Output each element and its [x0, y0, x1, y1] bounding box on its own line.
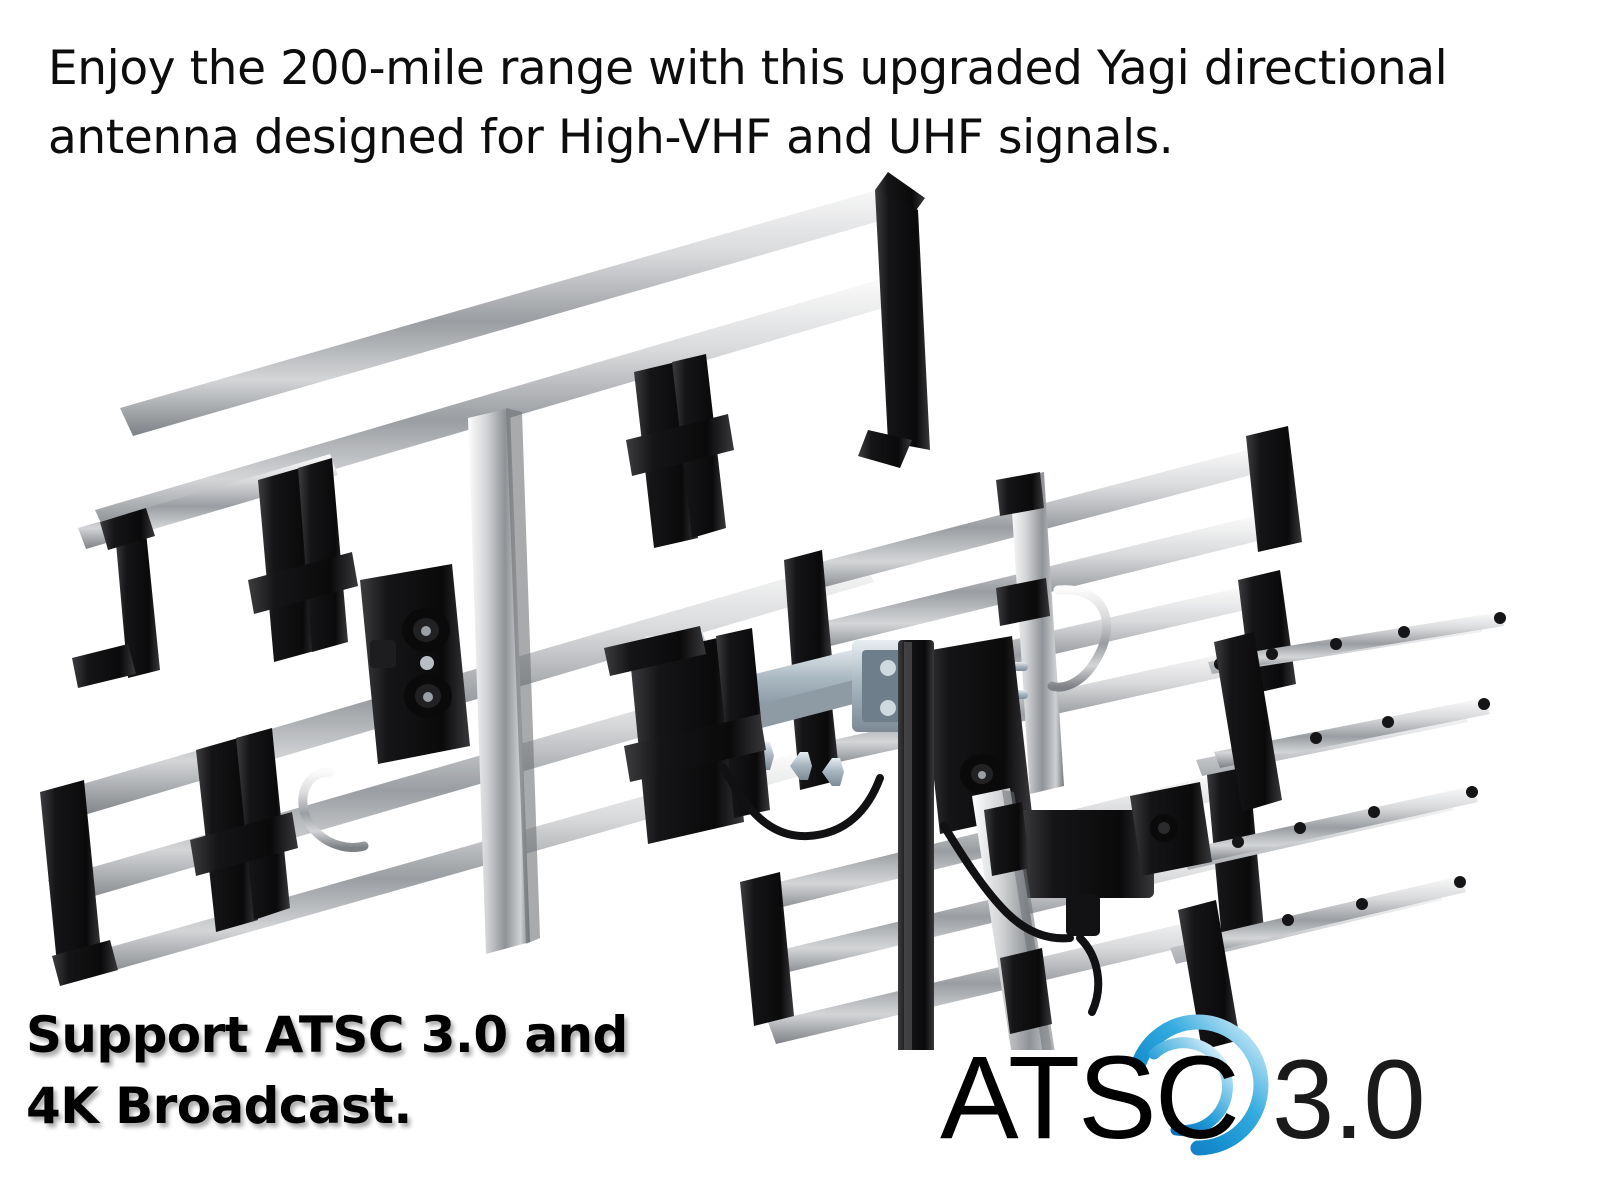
aluminum-support-strut-left [468, 408, 540, 954]
antenna-mast [898, 640, 934, 1050]
slide-canvas: Enjoy the 200-mile range with this upgra… [0, 0, 1600, 1192]
page-headline: Enjoy the 200-mile range with this upgra… [48, 34, 1468, 172]
vhf-right-upper-array [784, 426, 1302, 794]
atsc-version-number: 3.0 [1272, 1037, 1425, 1158]
product-photo-yagi-antenna [0, 150, 1600, 1050]
atsc-3-0-logo: ATSC 3.0 [940, 1008, 1520, 1158]
feature-caption: Support ATSC 3.0 and 4K Broadcast. [26, 1000, 746, 1142]
atsc-wordmark: ATSC [940, 1032, 1238, 1158]
left-pivot-hub [360, 564, 470, 764]
